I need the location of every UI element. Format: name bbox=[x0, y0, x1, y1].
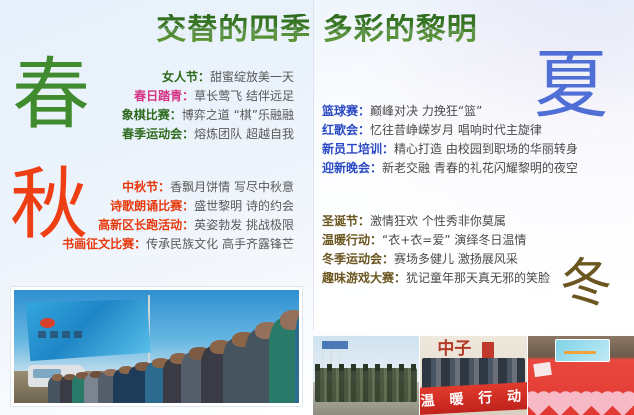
event-label: 高新区长跑活动 bbox=[98, 218, 182, 232]
event-label: 诗歌朗诵比赛 bbox=[110, 199, 182, 213]
event-colon: ： bbox=[182, 89, 194, 103]
page-title-reflection: 交替的四季 多彩的黎明 bbox=[0, 24, 634, 41]
poster-card bbox=[555, 339, 610, 362]
event-colon: ： bbox=[182, 127, 194, 141]
event-desc: 精心打造 由校园到职场的华丽转身 bbox=[394, 142, 578, 156]
event-label: 冬季运动会 bbox=[322, 252, 382, 266]
event-desc: 传承民族文化 高手齐露锋芒 bbox=[146, 237, 294, 251]
season-block-summer: 篮球赛：巅峰对决 力挽狂“篮” 红歌会：忆往昔峥嵘岁月 唱响时代主旋律 新员工培… bbox=[322, 102, 632, 178]
event-colon: ： bbox=[358, 123, 370, 137]
event-label: 温暖行动 bbox=[322, 233, 370, 247]
group-with-red-banner-photo: 中子 温 暖 行 动 bbox=[419, 336, 526, 415]
event-desc: 熔炼团队 超越自我 bbox=[194, 127, 294, 141]
event-label: 书画征文比赛 bbox=[62, 237, 134, 251]
event-label: 春季运动会 bbox=[122, 127, 182, 141]
event-desc: 新老交融 青春的礼花闪耀黎明的夜空 bbox=[382, 161, 578, 175]
event-desc: “衣+衣=爱” 演绎冬日温情 bbox=[382, 233, 526, 247]
event-label: 红歌会 bbox=[322, 123, 358, 137]
crowd-with-blue-flag-photo bbox=[10, 286, 303, 407]
list-item: 象棋比赛：博弈之道 “棋”乐融融 bbox=[0, 106, 300, 125]
list-item: 冬季运动会：赛场多健儿 激扬展风采 bbox=[322, 250, 632, 269]
list-item: 迎新晚会：新老交融 青春的礼花闪耀黎明的夜空 bbox=[322, 159, 632, 178]
photo-strip: 中子 温 暖 行 动 bbox=[313, 336, 634, 415]
crowd-figures bbox=[14, 290, 299, 403]
event-colon: ： bbox=[158, 180, 170, 194]
event-desc: 忆往昔峥嵘岁月 唱响时代主旋律 bbox=[370, 123, 542, 137]
event-desc: 香飘月饼情 写尽中秋意 bbox=[170, 180, 294, 194]
event-label: 中秋节 bbox=[122, 180, 158, 194]
flag-icon bbox=[339, 341, 349, 350]
list-item: 诗歌朗诵比赛：盛世黎明 诗的约会 bbox=[0, 197, 300, 216]
event-label: 趣味游戏大赛 bbox=[322, 271, 394, 285]
paper-hearts-row bbox=[528, 372, 634, 413]
list-item: 新员工培训：精心打造 由校园到职场的华丽转身 bbox=[322, 140, 632, 159]
panel-divider bbox=[319, 196, 629, 197]
soldier-heads bbox=[315, 364, 417, 370]
event-desc: 赛场多健儿 激扬展风采 bbox=[394, 252, 518, 266]
event-colon: ： bbox=[370, 233, 382, 247]
event-label: 迎新晚会 bbox=[322, 161, 370, 175]
poster-canvas: 交替的四季 多彩的黎明 交替的四季 多彩的黎明 春 秋 夏 冬 女人节：甜蜜绽放… bbox=[0, 0, 634, 415]
list-item: 篮球赛：巅峰对决 力挽狂“篮” bbox=[322, 102, 632, 121]
season-block-autumn: 中秋节：香飘月饼情 写尽中秋意 诗歌朗诵比赛：盛世黎明 诗的约会 高新区长跑活动… bbox=[0, 178, 300, 254]
event-label: 象棋比赛 bbox=[122, 108, 170, 122]
event-desc: 犹记童年那天真无邪的笑脸 bbox=[406, 271, 550, 285]
event-colon: ： bbox=[394, 271, 406, 285]
event-desc: 巅峰对决 力挽狂“篮” bbox=[370, 104, 482, 118]
list-item: 中秋节：香飘月饼情 写尽中秋意 bbox=[0, 178, 300, 197]
event-colon: ： bbox=[170, 108, 182, 122]
event-label: 新员工培训 bbox=[322, 142, 382, 156]
event-colon: ： bbox=[358, 214, 370, 228]
list-item: 红歌会：忆往昔峥嵘岁月 唱响时代主旋律 bbox=[322, 121, 632, 140]
event-desc: 草长莺飞 结伴远足 bbox=[194, 89, 294, 103]
page-title-block: 交替的四季 多彩的黎明 交替的四季 多彩的黎明 bbox=[0, 14, 634, 73]
event-desc: 博弈之道 “棋”乐融融 bbox=[182, 108, 294, 122]
wall-red-square bbox=[482, 342, 494, 358]
photo-frame bbox=[14, 290, 299, 403]
list-item: 圣诞节：激情狂欢 个性秀非你莫属 bbox=[322, 212, 632, 231]
heart-icon bbox=[612, 394, 634, 415]
event-colon: ： bbox=[182, 218, 194, 232]
military-training-formation-photo bbox=[313, 336, 419, 415]
list-item: 春季运动会：熔炼团队 超越自我 bbox=[0, 125, 300, 144]
list-item: 趣味游戏大赛：犹记童年那天真无邪的笑脸 bbox=[322, 269, 632, 288]
list-item: 书画征文比赛：传承民族文化 高手齐露锋芒 bbox=[0, 235, 300, 254]
event-desc: 激情狂欢 个性秀非你莫属 bbox=[370, 214, 506, 228]
list-item: 高新区长跑活动：英姿勃发 挑战极限 bbox=[0, 216, 300, 235]
event-label: 春日踏青 bbox=[134, 89, 182, 103]
event-colon: ： bbox=[370, 161, 382, 175]
event-label: 圣诞节 bbox=[322, 214, 358, 228]
event-colon: ： bbox=[182, 199, 194, 213]
red-banner-text: 温 暖 行 动 bbox=[419, 382, 526, 415]
list-item: 春日踏青：草长莺飞 结伴远足 bbox=[0, 87, 300, 106]
soldier-formation bbox=[315, 368, 417, 403]
event-colon: ： bbox=[382, 142, 394, 156]
season-block-winter: 圣诞节：激情狂欢 个性秀非你莫属 温暖行动：“衣+衣=爱” 演绎冬日温情 冬季运… bbox=[322, 212, 632, 288]
list-item: 温暖行动：“衣+衣=爱” 演绎冬日温情 bbox=[322, 231, 632, 250]
paper-hearts-donation-photo bbox=[527, 336, 634, 415]
event-desc: 英姿勃发 挑战极限 bbox=[194, 218, 294, 232]
event-colon: ： bbox=[134, 237, 146, 251]
event-label: 篮球赛 bbox=[322, 104, 358, 118]
season-block-spring: 女人节：甜蜜绽放美一天 春日踏青：草长莺飞 结伴远足 象棋比赛：博弈之道 “棋”… bbox=[0, 68, 300, 144]
event-desc: 盛世黎明 诗的约会 bbox=[194, 199, 294, 213]
event-colon: ： bbox=[358, 104, 370, 118]
event-colon: ： bbox=[382, 252, 394, 266]
